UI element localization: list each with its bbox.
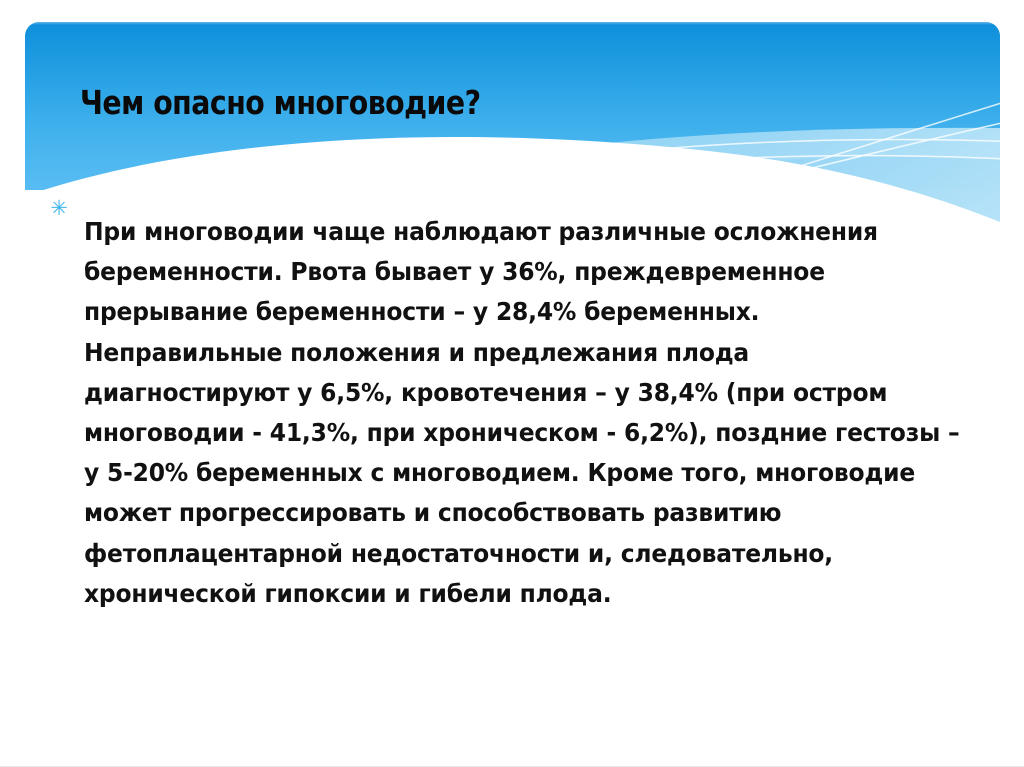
body-line: многоводии - 41,3%, при хроническом - 6,… — [84, 413, 963, 453]
slide-title: Чем опасно многоводие? — [80, 82, 820, 124]
body-paragraph: При многоводии чаще наблюдают различные … — [84, 212, 963, 614]
body-line: беременности. Рвота бывает у 36%, прежде… — [84, 252, 963, 292]
body-line: фетоплацентарной недостаточности и, след… — [84, 534, 963, 574]
body-line: диагностируют у 6,5%, кровотечения – у 3… — [84, 373, 963, 413]
body-line: хронической гипоксии и гибели плода. — [84, 574, 963, 614]
body-line: При многоводии чаще наблюдают различные … — [84, 212, 963, 252]
body-line: может прогрессировать и способствовать р… — [84, 493, 963, 533]
body-line: Неправильные положения и предлежания пло… — [84, 333, 963, 373]
body-line: прерывание беременности – у 28,4% береме… — [84, 292, 963, 332]
asterisk-bullet-icon: ✳ — [49, 198, 69, 218]
body-line: у 5-20% беременных с многоводием. Кроме … — [84, 453, 963, 493]
presentation-slide: Чем опасно многоводие? ✳ При многоводии … — [0, 0, 1024, 767]
